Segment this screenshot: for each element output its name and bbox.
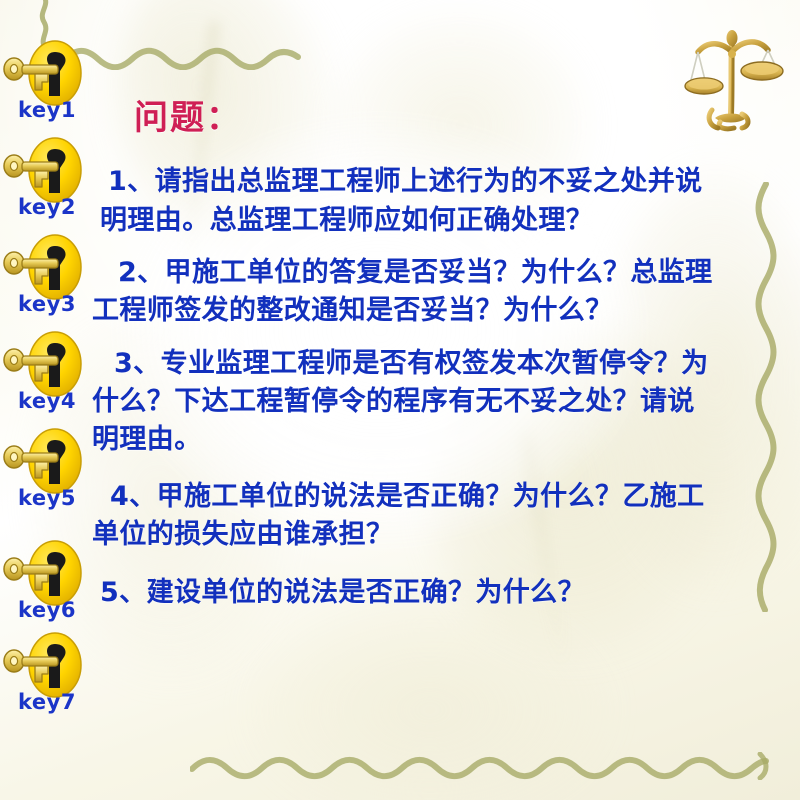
page-title: 问题： — [134, 100, 722, 137]
key-item[interactable]: key2 — [2, 137, 94, 233]
vine-bottom-horizontal-icon — [190, 752, 770, 780]
key-icon — [2, 540, 84, 606]
key-item[interactable]: key6 — [2, 540, 94, 636]
key-item[interactable]: key3 — [2, 234, 94, 330]
question-5: 5、建设单位的说法是否正确？为什么？ — [92, 574, 722, 612]
key-item[interactable]: key7 — [2, 632, 94, 728]
slide-canvas: key1 key2 — [0, 0, 800, 800]
key-icon — [2, 428, 84, 494]
key-item[interactable]: key4 — [2, 331, 94, 427]
key-label: key5 — [18, 488, 76, 509]
key-item[interactable]: key1 — [2, 40, 94, 136]
question-4: 4、甲施工单位的说法是否正确？为什么？乙施工单位的损失应由谁承担？ — [92, 478, 722, 555]
key-label: key6 — [18, 600, 76, 621]
key-icon — [2, 137, 84, 203]
vine-top-horizontal-icon — [62, 44, 302, 70]
key-icon — [2, 632, 84, 698]
key-label: key1 — [18, 100, 76, 121]
question-list: 问题： 1、请指出总监理工程师上述行为的不妥之处并说明理由。总监理工程师应如何正… — [92, 100, 722, 627]
key-item[interactable]: key5 — [2, 428, 94, 524]
key-label: key3 — [18, 294, 76, 315]
key-label: key4 — [18, 391, 76, 412]
vine-right-vertical-icon — [752, 182, 780, 612]
question-2: 2、甲施工单位的答复是否妥当？为什么？总监理工程师签发的整改通知是否妥当？为什么… — [92, 254, 722, 331]
key-icon — [2, 234, 84, 300]
key-label: key7 — [18, 692, 76, 713]
question-3: 3、专业监理工程师是否有权签发本次暂停令？为什么？下达工程暂停令的程序有无不妥之… — [92, 345, 722, 460]
question-1: 1、请指出总监理工程师上述行为的不妥之处并说明理由。总监理工程师应如何正确处理？ — [100, 163, 722, 240]
key-icon — [2, 40, 84, 106]
key-icon — [2, 331, 84, 397]
key-label: key2 — [18, 197, 76, 218]
